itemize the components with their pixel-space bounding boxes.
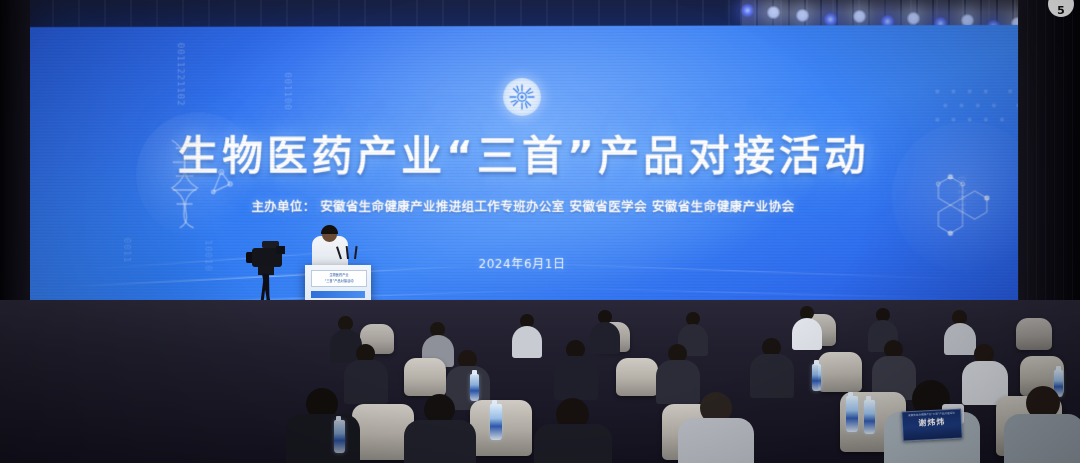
chair: [616, 358, 658, 396]
podium-accent-band: [311, 291, 365, 298]
stage-light: [795, 8, 810, 23]
conference-photo: 0011221102 001100 0011 10010 011010 生物医药…: [0, 0, 1080, 463]
water-bottle: [490, 404, 502, 440]
name-placard: 安徽省生命健康产业“三首”产品对接活动 谢炜炜: [901, 408, 962, 441]
stage-light: [766, 5, 781, 20]
audience-area: 安徽省生命健康产业“三首”产品对接活动 谢炜炜: [0, 300, 1080, 463]
stage-light: [852, 9, 867, 24]
digit-column: 0011221102: [174, 43, 185, 107]
water-bottle: [812, 364, 821, 391]
event-date: 2024年6月1日: [25, 255, 1025, 273]
water-bottle: [864, 400, 875, 434]
podium-nameplate: 生物医药产业 “三首”产品对接活动: [311, 270, 367, 287]
chair: [1016, 318, 1052, 350]
microphone-cluster: [338, 246, 364, 260]
podium-plate-line2: “三首”产品对接活动: [312, 277, 366, 283]
water-bottle: [334, 420, 345, 453]
event-emblem-icon: [503, 78, 541, 116]
event-main-title: 生物医药产业“三首”产品对接活动: [25, 122, 1025, 182]
digit-column: 001100: [281, 72, 292, 110]
stage-light: [906, 11, 921, 26]
water-bottle: [846, 396, 858, 432]
stage-light: [740, 3, 755, 18]
chair: [818, 352, 862, 392]
camera-viewfinder: [276, 246, 285, 254]
chair: [404, 358, 446, 396]
water-bottle: [470, 374, 479, 401]
event-organizers: 主办单位： 安徽省生命健康产业推进组工作专班办公室 安徽省医学会 安徽省生命健康…: [25, 196, 1025, 215]
